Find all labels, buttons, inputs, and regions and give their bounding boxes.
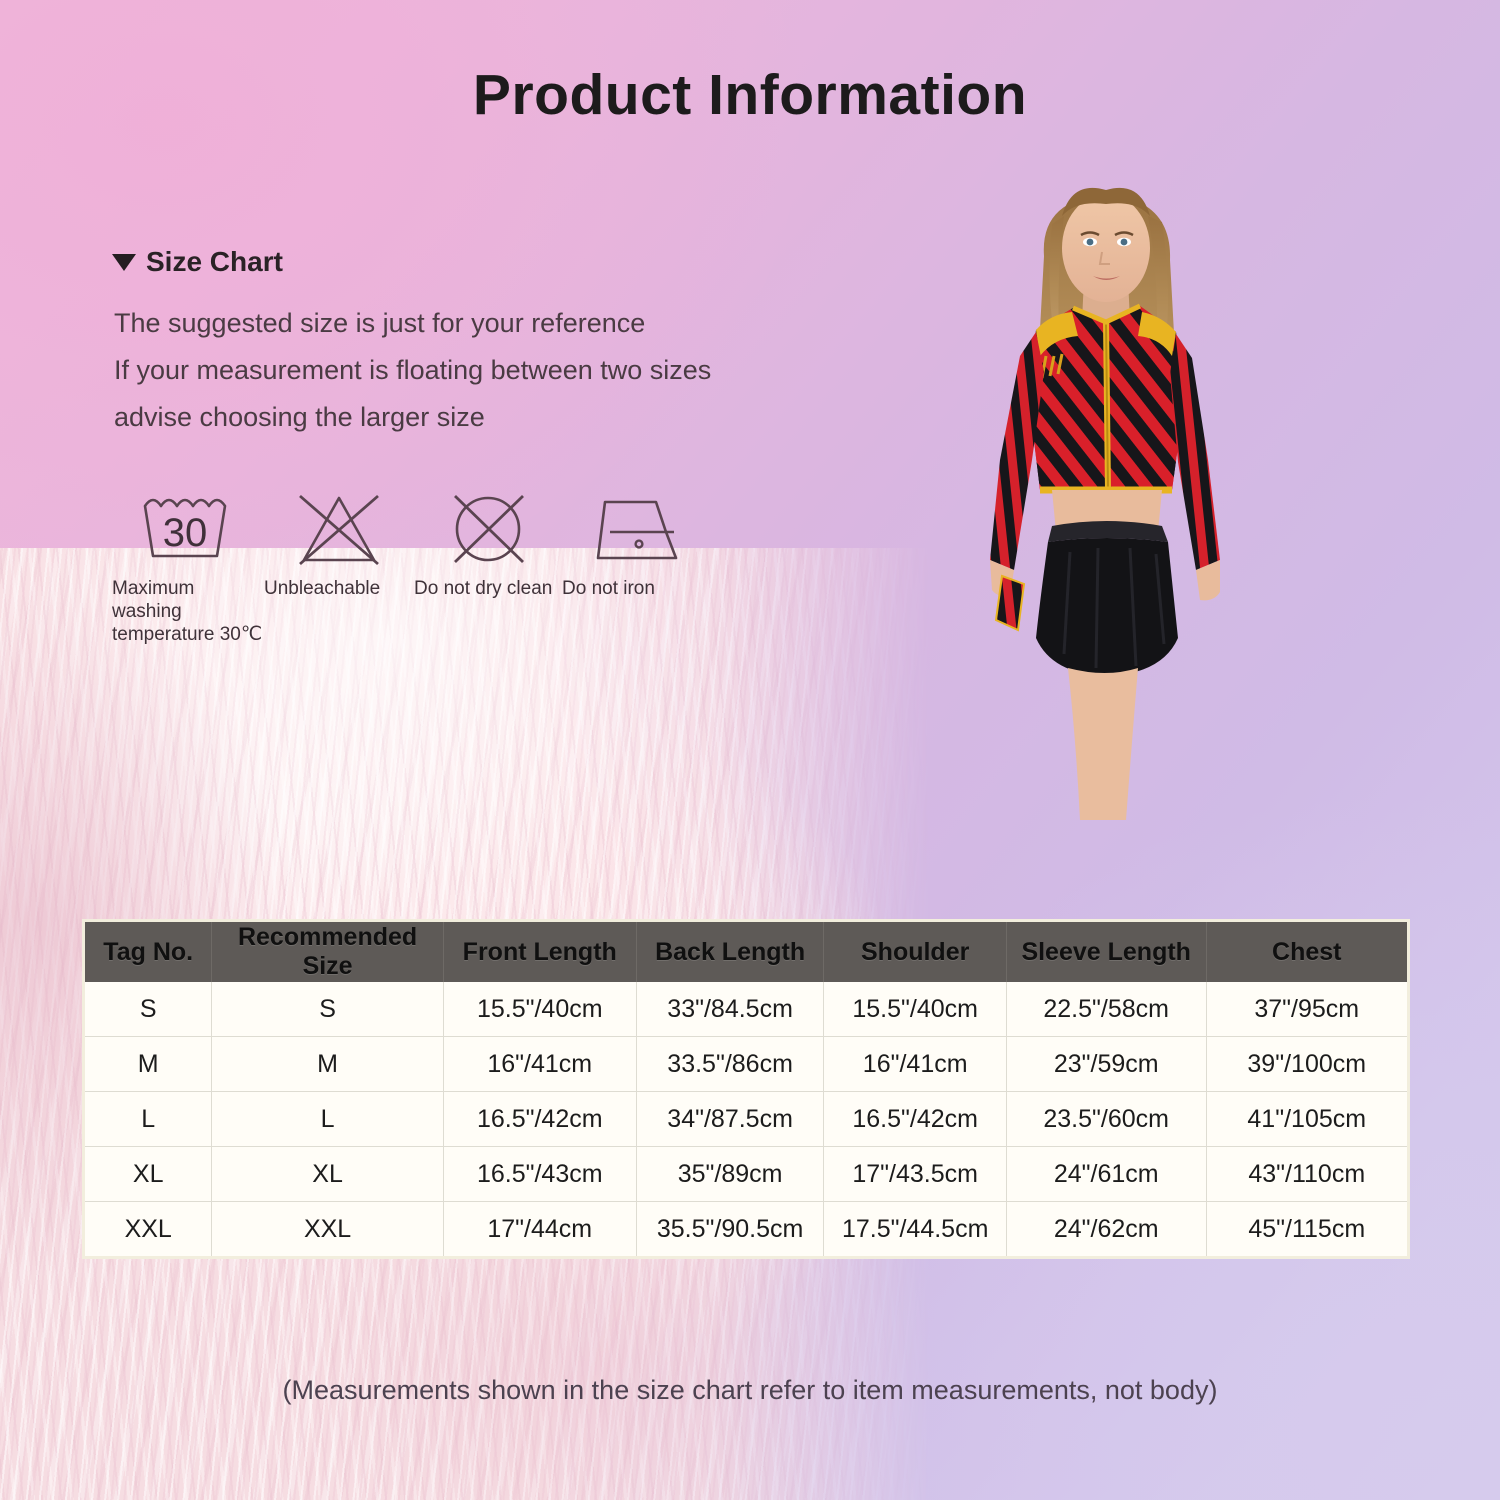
table-cell: XXL xyxy=(85,1202,212,1257)
table-row: M M 16"/41cm 33.5"/86cm 16"/41cm 23"/59c… xyxy=(85,1037,1407,1092)
wash-temp-value: 30 xyxy=(163,511,208,555)
table-cell: M xyxy=(212,1037,443,1092)
size-chart-note-line: If your measurement is floating between … xyxy=(114,347,711,394)
size-chart-heading-label: Size Chart xyxy=(146,246,283,278)
table-header-cell: Back Length xyxy=(636,922,824,982)
model-face xyxy=(1062,194,1150,302)
table-header-cell: Tag No. xyxy=(85,922,212,982)
triangle-down-icon xyxy=(112,254,136,271)
model-legs xyxy=(1068,668,1138,820)
table-cell: 23"/59cm xyxy=(1006,1037,1206,1092)
care-symbol-max-wash-temp: 30 Maximum washing temperature 30℃ xyxy=(112,486,264,646)
table-header-cell: Front Length xyxy=(443,922,636,982)
table-cell: 17"/44cm xyxy=(443,1202,636,1257)
care-caption: Unbleachable xyxy=(264,577,414,600)
table-cell: 34"/87.5cm xyxy=(636,1092,824,1147)
table-cell: M xyxy=(85,1037,212,1092)
table-cell: 15.5"/40cm xyxy=(443,982,636,1037)
care-symbol-no-dry-clean: Do not dry clean xyxy=(414,486,562,600)
table-cell: 23.5"/60cm xyxy=(1006,1092,1206,1147)
table-cell: 16"/41cm xyxy=(824,1037,1006,1092)
table-header-cell: Sleeve Length xyxy=(1006,922,1206,982)
table-cell: 33"/84.5cm xyxy=(636,982,824,1037)
table-cell: XL xyxy=(85,1147,212,1202)
table-cell: XXL xyxy=(212,1202,443,1257)
table-cell: L xyxy=(85,1092,212,1147)
table-row: S S 15.5"/40cm 33"/84.5cm 15.5"/40cm 22.… xyxy=(85,982,1407,1037)
no-dry-clean-icon xyxy=(414,486,562,570)
table-cell: XL xyxy=(212,1147,443,1202)
model-skirt xyxy=(1036,521,1178,676)
table-cell: 15.5"/40cm xyxy=(824,982,1006,1037)
table-cell: 33.5"/86cm xyxy=(636,1037,824,1092)
table-cell: 17"/43.5cm xyxy=(824,1147,1006,1202)
table-cell: 24"/62cm xyxy=(1006,1202,1206,1257)
size-table-container: Tag No. Recommended Size Front Length Ba… xyxy=(85,922,1407,1256)
table-cell: 41"/105cm xyxy=(1206,1092,1407,1147)
table-header-cell: Chest xyxy=(1206,922,1407,982)
table-cell: 35.5"/90.5cm xyxy=(636,1202,824,1257)
model-jacket xyxy=(1028,300,1188,500)
table-cell: S xyxy=(212,982,443,1037)
table-cell: S xyxy=(85,982,212,1037)
table-cell: L xyxy=(212,1092,443,1147)
measurement-disclaimer: (Measurements shown in the size chart re… xyxy=(0,1375,1500,1406)
wash-tub-30-icon: 30 xyxy=(112,486,264,570)
page-title: Product Information xyxy=(0,62,1500,128)
care-caption: Maximum washing temperature 30℃ xyxy=(112,577,264,646)
table-cell: 16.5"/43cm xyxy=(443,1147,636,1202)
care-symbol-no-iron: Do not iron xyxy=(562,486,712,600)
table-cell: 16.5"/42cm xyxy=(443,1092,636,1147)
table-header-cell: Shoulder xyxy=(824,922,1006,982)
table-row: XXL XXL 17"/44cm 35.5"/90.5cm 17.5"/44.5… xyxy=(85,1202,1407,1257)
size-chart-section-header: Size Chart xyxy=(112,246,283,278)
care-caption: Do not dry clean xyxy=(414,577,562,600)
no-iron-icon xyxy=(562,486,712,570)
table-header-row: Tag No. Recommended Size Front Length Ba… xyxy=(85,922,1407,982)
size-chart-note-line: The suggested size is just for your refe… xyxy=(114,300,711,347)
table-cell: 37"/95cm xyxy=(1206,982,1407,1037)
model-sleeve-right xyxy=(1170,334,1220,570)
table-row: XL XL 16.5"/43cm 35"/89cm 17"/43.5cm 24"… xyxy=(85,1147,1407,1202)
table-cell: 16"/41cm xyxy=(443,1037,636,1092)
table-cell: 35"/89cm xyxy=(636,1147,824,1202)
size-chart-note-line: advise choosing the larger size xyxy=(114,394,711,441)
table-cell: 45"/115cm xyxy=(1206,1202,1407,1257)
table-cell: 17.5"/44.5cm xyxy=(824,1202,1006,1257)
table-cell: 16.5"/42cm xyxy=(824,1092,1006,1147)
no-bleach-icon xyxy=(264,486,414,570)
size-chart-notes: The suggested size is just for your refe… xyxy=(114,300,711,441)
table-row: L L 16.5"/42cm 34"/87.5cm 16.5"/42cm 23.… xyxy=(85,1092,1407,1147)
care-caption: Do not iron xyxy=(562,577,712,600)
table-cell: 39"/100cm xyxy=(1206,1037,1407,1092)
size-table: Tag No. Recommended Size Front Length Ba… xyxy=(85,922,1407,1256)
care-symbols-row: 30 Maximum washing temperature 30℃ Unble… xyxy=(112,486,712,646)
care-symbol-unbleachable: Unbleachable xyxy=(264,486,414,600)
product-model-photo xyxy=(940,160,1270,820)
table-cell: 22.5"/58cm xyxy=(1006,982,1206,1037)
table-header-cell: Recommended Size xyxy=(212,922,443,982)
table-cell: 43"/110cm xyxy=(1206,1147,1407,1202)
table-cell: 24"/61cm xyxy=(1006,1147,1206,1202)
